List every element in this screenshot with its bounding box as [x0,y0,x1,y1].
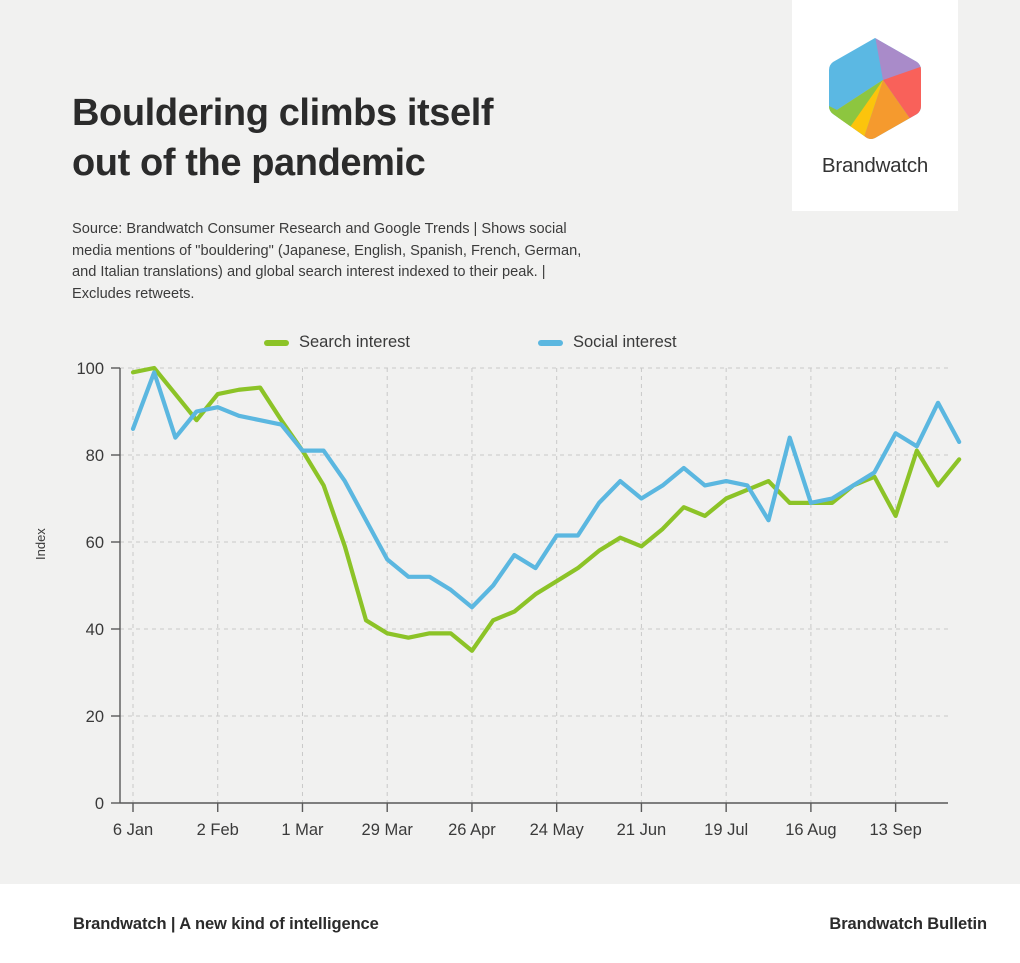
y-axis-tick-label: 80 [86,447,104,465]
series-line-social-interest [133,372,959,607]
y-axis-tick-label: 0 [95,795,104,813]
footer-bulletin-label: Brandwatch Bulletin [829,915,987,934]
footer-bar: Brandwatch | A new kind of intelligence … [0,884,1020,963]
x-axis-tick-label: 24 May [530,821,585,839]
y-axis-tick-label: 20 [86,708,104,726]
y-axis-tick-label: 40 [86,621,104,639]
chart-canvas: 0204060801006 Jan2 Feb1 Mar29 Mar26 Apr2… [0,0,1020,884]
x-axis-tick-label: 29 Mar [362,821,414,839]
y-axis-tick-label: 60 [86,534,104,552]
infographic-root: Bouldering climbs itself out of the pand… [0,0,1020,963]
x-axis-tick-label: 6 Jan [113,821,153,839]
y-axis-tick-label: 100 [76,360,104,378]
x-axis-tick-label: 13 Sep [869,821,921,839]
x-axis-tick-label: 21 Jun [617,821,667,839]
line-chart: 0204060801006 Jan2 Feb1 Mar29 Mar26 Apr2… [0,0,1020,884]
footer-brand-tagline: Brandwatch | A new kind of intelligence [73,915,379,934]
x-axis-tick-label: 26 Apr [448,821,496,839]
x-axis-tick-label: 1 Mar [281,821,324,839]
x-axis-tick-label: 19 Jul [704,821,748,839]
y-axis-title: Index [33,528,48,560]
series-line-search-interest [133,368,959,651]
x-axis-tick-label: 2 Feb [197,821,239,839]
x-axis-tick-label: 16 Aug [785,821,836,839]
